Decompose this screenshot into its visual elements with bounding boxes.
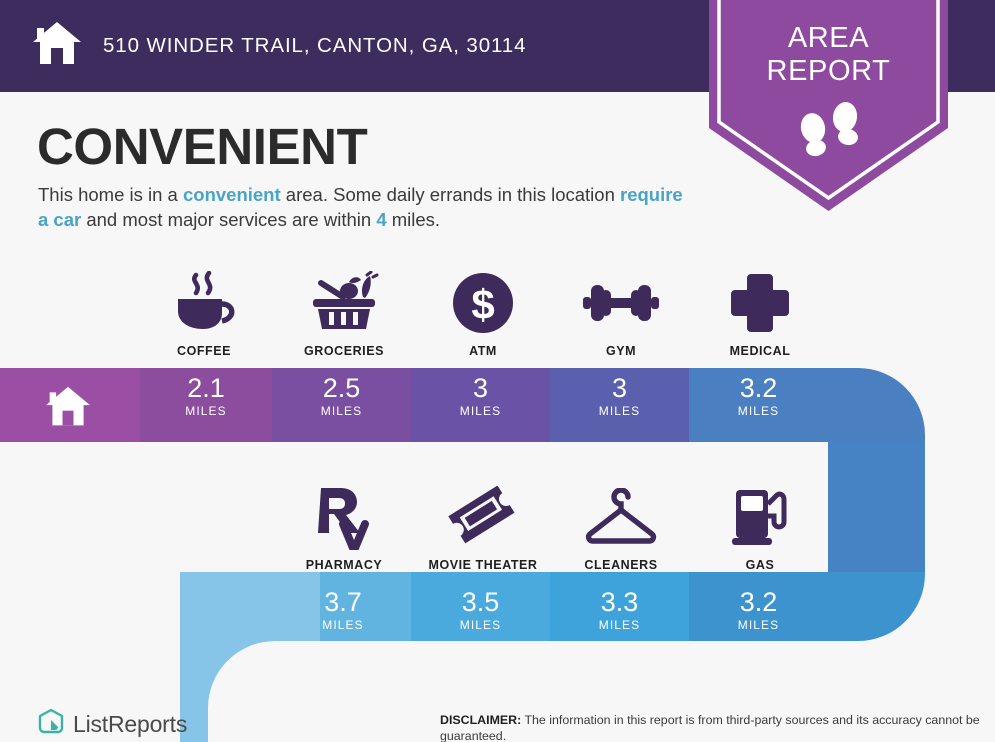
- category-coffee: COFFEE: [134, 258, 274, 358]
- distance-bar-path: 2.1 MILES 2.5 MILES 3 MILES 3 MILES 3.2 …: [0, 360, 995, 742]
- svg-text:$: $: [471, 281, 494, 328]
- disclaimer-label: DISCLAIMER:: [440, 713, 521, 727]
- summary-distance: 4: [376, 209, 386, 230]
- dumbbell-icon: [581, 270, 661, 336]
- property-address: 510 WINDER TRAIL, CANTON, GA, 30114: [103, 34, 526, 58]
- logo-wordmark: ListReports: [73, 711, 187, 738]
- bar-segment-cleaners: [550, 572, 689, 662]
- area-report-badge: AREA REPORT: [709, 0, 948, 211]
- listreports-house-icon: [38, 708, 64, 741]
- disclaimer-body: The information in this report is from t…: [440, 713, 980, 742]
- bar-segment-coffee: [140, 360, 272, 442]
- category-label: MEDICAL: [730, 344, 791, 358]
- page-title: CONVENIENT: [37, 118, 367, 176]
- category-medical: MEDICAL: [690, 258, 830, 358]
- disclaimer: DISCLAIMER: The information in this repo…: [440, 712, 988, 742]
- summary-part-3: and most major services are within: [81, 209, 376, 230]
- medical-cross-icon: [729, 270, 791, 336]
- category-atm: $ ATM: [413, 258, 553, 358]
- house-icon: [44, 385, 92, 434]
- bar-segment-atm: [411, 360, 550, 442]
- summary-part-1: This home is in a: [38, 184, 183, 205]
- icon-row-top: COFFEE GROCERIES: [0, 258, 995, 358]
- bar-corner-bottom-right: [828, 572, 995, 662]
- category-label: GYM: [606, 344, 636, 358]
- category-label: ATM: [469, 344, 497, 358]
- infographic-page: 510 WINDER TRAIL, CANTON, GA, 30114 AREA…: [0, 0, 995, 742]
- category-groceries: GROCERIES: [274, 258, 414, 358]
- bar-segment-medical: [689, 360, 828, 442]
- bar-segment-gas: [689, 572, 828, 662]
- grocery-basket-icon: [307, 270, 381, 336]
- summary-part-2: area. Some daily errands in this locatio…: [281, 184, 620, 205]
- category-label: COFFEE: [177, 344, 231, 358]
- category-label: GROCERIES: [304, 344, 384, 358]
- listreports-logo[interactable]: ListReports: [38, 708, 187, 741]
- house-icon: [31, 20, 83, 73]
- bar-corner-top-right: [828, 360, 995, 442]
- bar-segment-gym: [550, 360, 689, 442]
- bar-segment-movie: [411, 572, 550, 662]
- summary-part-4: miles.: [387, 209, 440, 230]
- bar-lead-in: [180, 572, 320, 662]
- bar-segment-groceries: [272, 360, 411, 442]
- bar-connector-right: [828, 442, 995, 572]
- dollar-circle-icon: $: [451, 270, 515, 336]
- category-gym: GYM: [551, 258, 691, 358]
- coffee-cup-icon: [168, 270, 240, 336]
- summary-text: This home is in a convenient area. Some …: [38, 182, 698, 232]
- summary-highlight-1: convenient: [183, 184, 281, 205]
